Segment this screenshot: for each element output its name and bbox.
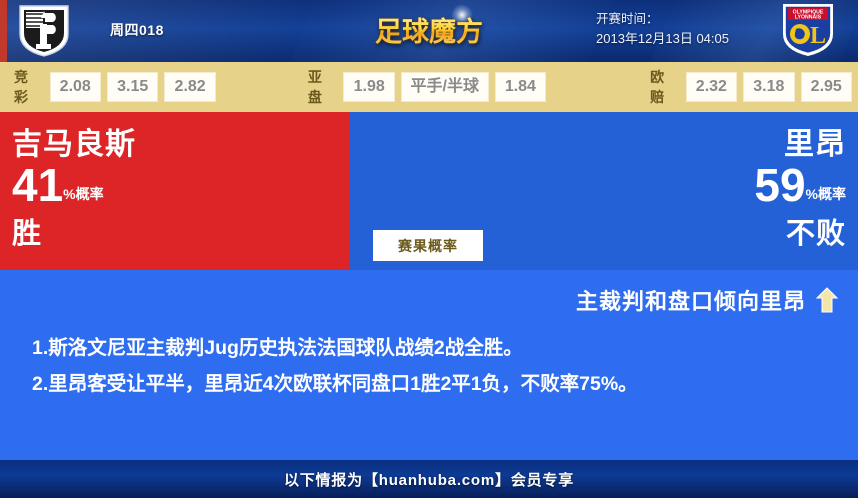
fixture-preview-card: 周四018 足球魔方 开赛时间： 2013年12月13日 04:05 OLYMP… bbox=[0, 0, 858, 498]
odds-group-label: 竞彩 bbox=[14, 67, 43, 107]
intel-item-1: 1.斯洛文尼亚主裁判Jug历史执法法国球队战绩2战全胜。 bbox=[32, 330, 834, 366]
odds-cell-away[interactable]: 2.95 bbox=[801, 72, 852, 102]
odds-group-asian: 亚盘 1.98 平手/半球 1.84 bbox=[308, 67, 552, 107]
footer-bar: 以下情报为【huanhuba.com】会员专享 bbox=[0, 460, 858, 498]
odds-cell-away[interactable]: 1.84 bbox=[495, 72, 547, 102]
home-percent-value: 41 bbox=[12, 159, 63, 211]
odds-group-european: 欧赔 2.32 3.18 2.95 bbox=[650, 67, 858, 107]
intel-panel: 主裁判和盘口倾向里昂 1.斯洛文尼亚主裁判Jug历史执法法国球队战绩2战全胜。 … bbox=[0, 270, 858, 460]
away-team-name: 里昂 bbox=[626, 128, 846, 162]
intel-headline-row: 主裁判和盘口倾向里昂 bbox=[576, 284, 838, 316]
home-percent-suffix: %概率 bbox=[63, 186, 103, 202]
vitoria-guimaraes-crest-icon bbox=[16, 4, 72, 58]
svg-text:LYONNAIS: LYONNAIS bbox=[795, 15, 822, 21]
home-result-label: 胜 bbox=[12, 218, 212, 251]
footer-text: 以下情报为【huanhuba.com】会员专享 bbox=[284, 469, 574, 490]
away-result-label: 不败 bbox=[626, 218, 846, 251]
odds-cell-handicap[interactable]: 平手/半球 bbox=[401, 72, 489, 102]
site-logo[interactable]: 足球魔方 bbox=[359, 2, 499, 58]
kickoff-time: 2013年12月13日 04:05 bbox=[596, 29, 729, 48]
match-number: 周四018 bbox=[110, 20, 164, 40]
olympique-lyonnais-crest-icon: OLYMPIQUE LYONNAIS L bbox=[779, 2, 837, 58]
svg-text:L: L bbox=[810, 23, 826, 49]
odds-cell-away[interactable]: 2.82 bbox=[164, 72, 215, 102]
odds-cell-home[interactable]: 1.98 bbox=[343, 72, 395, 102]
odds-group-jingcai: 竞彩 2.08 3.15 2.82 bbox=[14, 67, 222, 107]
away-probability-block: 里昂 59%概率 不败 bbox=[626, 128, 846, 251]
odds-cell-draw[interactable]: 3.15 bbox=[107, 72, 158, 102]
logo-text: 足球魔方 bbox=[359, 10, 499, 49]
header-bar: 周四018 足球魔方 开赛时间： 2013年12月13日 04:05 OLYMP… bbox=[0, 0, 858, 62]
header-red-accent bbox=[0, 0, 7, 62]
away-percent-value: 59 bbox=[754, 159, 805, 211]
odds-group-label: 亚盘 bbox=[308, 67, 337, 107]
intel-item-2: 2.里昂客受让平半，里昂近4次欧联杯同盘口1胜2平1负，不败率75%。 bbox=[32, 366, 834, 402]
odds-cell-home[interactable]: 2.08 bbox=[50, 72, 101, 102]
arrow-up-icon bbox=[816, 287, 838, 313]
home-team-name: 吉马良斯 bbox=[12, 128, 212, 162]
away-percent-line: 59%概率 bbox=[626, 162, 846, 218]
probability-section: 吉马良斯 41%概率 胜 里昂 59%概率 不败 赛果概率 本场比赛吉马良斯获胜… bbox=[0, 112, 858, 270]
tab-result-probability-label: 赛果概率 bbox=[398, 236, 458, 256]
intel-list: 1.斯洛文尼亚主裁判Jug历史执法法国球队战绩2战全胜。 2.里昂客受让平半，里… bbox=[32, 330, 834, 402]
home-percent-line: 41%概率 bbox=[12, 162, 212, 218]
kickoff-info: 开赛时间： 2013年12月13日 04:05 bbox=[596, 10, 729, 48]
odds-bar: 竞彩 2.08 3.15 2.82 亚盘 1.98 平手/半球 1.84 欧赔 … bbox=[0, 62, 858, 112]
odds-cell-draw[interactable]: 3.18 bbox=[743, 72, 794, 102]
tab-result-probability[interactable]: 赛果概率 bbox=[373, 230, 483, 261]
odds-group-label: 欧赔 bbox=[650, 67, 679, 107]
away-percent-suffix: %概率 bbox=[806, 186, 846, 202]
odds-cell-home[interactable]: 2.32 bbox=[686, 72, 737, 102]
home-probability-block: 吉马良斯 41%概率 胜 bbox=[12, 128, 212, 251]
intel-headline: 主裁判和盘口倾向里昂 bbox=[576, 284, 806, 316]
kickoff-label: 开赛时间： bbox=[596, 10, 729, 29]
